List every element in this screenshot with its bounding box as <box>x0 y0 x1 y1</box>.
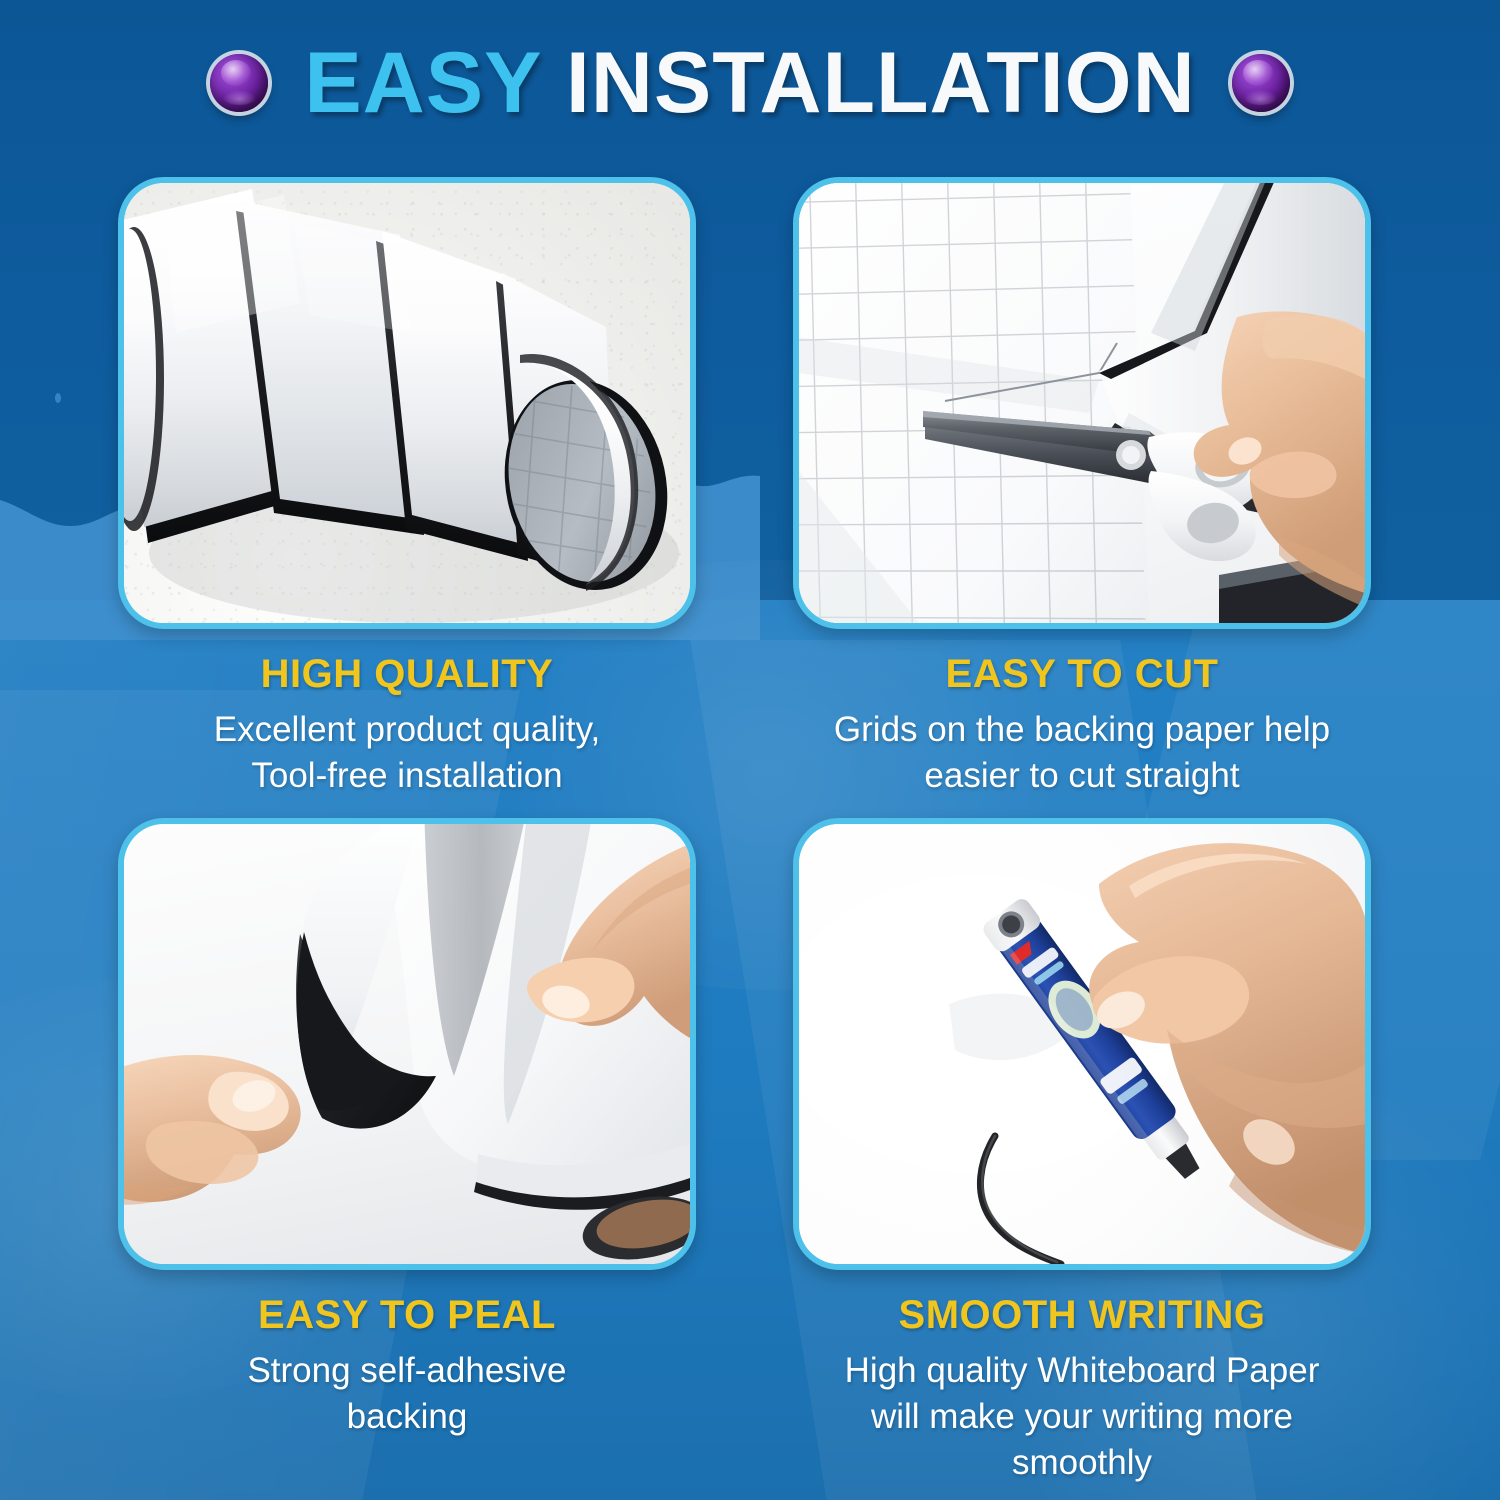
page-title-main: INSTALLATION <box>541 35 1196 131</box>
caption-body: Grids on the backing paper help easier t… <box>801 707 1363 799</box>
photo-rolled-sheet <box>118 177 696 629</box>
poster-header: EASY INSTALLATION <box>0 0 1500 165</box>
photo-scissors-cutting <box>793 177 1371 629</box>
caption-easy-to-peal: EASY TO PEAL Strong self-adhesive backin… <box>118 1292 696 1440</box>
caption-line: Strong self-adhesive <box>126 1348 688 1394</box>
pin-icon-right <box>1232 54 1290 112</box>
caption-line: Grids on the backing paper help <box>801 707 1363 753</box>
marker-writing-illustration <box>799 824 1365 1264</box>
infographic-poster: EASY INSTALLATION <box>0 0 1500 1500</box>
page-title: EASY INSTALLATION <box>304 40 1195 126</box>
peeling-illustration <box>124 824 690 1264</box>
page-title-accent: EASY <box>304 35 541 131</box>
caption-title: SMOOTH WRITING <box>801 1292 1363 1338</box>
caption-smooth-writing: SMOOTH WRITING High quality Whiteboard P… <box>793 1292 1371 1487</box>
photo-peeling-backing <box>118 818 696 1270</box>
caption-title: HIGH QUALITY <box>126 651 688 697</box>
caption-body: High quality Whiteboard Paper will make … <box>801 1348 1363 1487</box>
feature-card-smooth-writing: SMOOTH WRITING High quality Whiteboard P… <box>793 818 1371 1487</box>
caption-line: Excellent product quality, <box>126 707 688 753</box>
hand-icon-left <box>124 1055 301 1205</box>
caption-line: High quality Whiteboard Paper <box>801 1348 1363 1394</box>
scissors-cutting-illustration <box>799 183 1365 623</box>
caption-line: easier to cut straight <box>801 753 1363 799</box>
feature-card-easy-to-peal: EASY TO PEAL Strong self-adhesive backin… <box>118 818 696 1440</box>
caption-line: Tool-free installation <box>126 753 688 799</box>
feature-card-grid: HIGH QUALITY Excellent product quality, … <box>0 165 1500 1500</box>
caption-line: will make your writing more smoothly <box>801 1394 1363 1486</box>
caption-line: backing <box>126 1394 688 1440</box>
caption-body: Excellent product quality, Tool-free ins… <box>126 707 688 799</box>
caption-easy-to-cut: EASY TO CUT Grids on the backing paper h… <box>793 651 1371 799</box>
feature-card-easy-to-cut: EASY TO CUT Grids on the backing paper h… <box>793 177 1371 799</box>
feature-card-high-quality: HIGH QUALITY Excellent product quality, … <box>118 177 696 799</box>
rolled-sheet-illustration <box>124 183 690 623</box>
caption-high-quality: HIGH QUALITY Excellent product quality, … <box>118 651 696 799</box>
photo-marker-writing <box>793 818 1371 1270</box>
caption-body: Strong self-adhesive backing <box>126 1348 688 1440</box>
caption-title: EASY TO PEAL <box>126 1292 688 1338</box>
pin-icon-left <box>210 54 268 112</box>
caption-title: EASY TO CUT <box>801 651 1363 697</box>
